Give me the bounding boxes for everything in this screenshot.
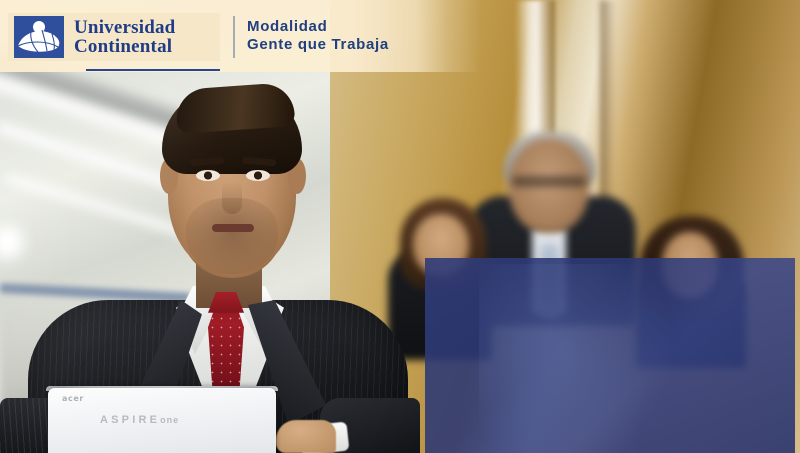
panel-glow	[479, 264, 679, 453]
info-panel: Inicio de clases:08 de marzo Charla info…	[425, 258, 795, 453]
promo-banner: acer ASPIREone Universidad Continental	[0, 0, 800, 453]
tagline-line-gente-que-trabaja: Gente que Trabaja	[247, 36, 389, 54]
light-glow	[0, 225, 24, 259]
logo-wordmark: Universidad Continental	[74, 18, 175, 57]
aspire-one-word: one	[160, 415, 179, 425]
acer-brand-logo: acer	[62, 394, 84, 403]
mouth	[212, 224, 254, 232]
eye-left	[196, 170, 220, 181]
header-divider	[233, 16, 235, 58]
logo-underline	[86, 69, 220, 71]
nose	[222, 182, 242, 214]
logo-line-continental: Continental	[74, 37, 175, 56]
modality-tagline: Modalidad Gente que Trabaja	[247, 18, 389, 55]
bg-man-glasses	[512, 176, 586, 187]
globe-person-logo-icon	[14, 16, 64, 58]
logo-line-universidad: Universidad	[74, 18, 175, 37]
aspire-model-mark: ASPIREone	[100, 414, 179, 426]
university-logo[interactable]: Universidad Continental	[8, 13, 220, 61]
tagline-line-modalidad: Modalidad	[247, 18, 389, 36]
aspire-word: ASPIRE	[100, 414, 160, 426]
header-band: Universidad Continental Modalidad Gente …	[0, 0, 800, 72]
eye-right	[246, 170, 270, 181]
hand	[276, 420, 336, 453]
